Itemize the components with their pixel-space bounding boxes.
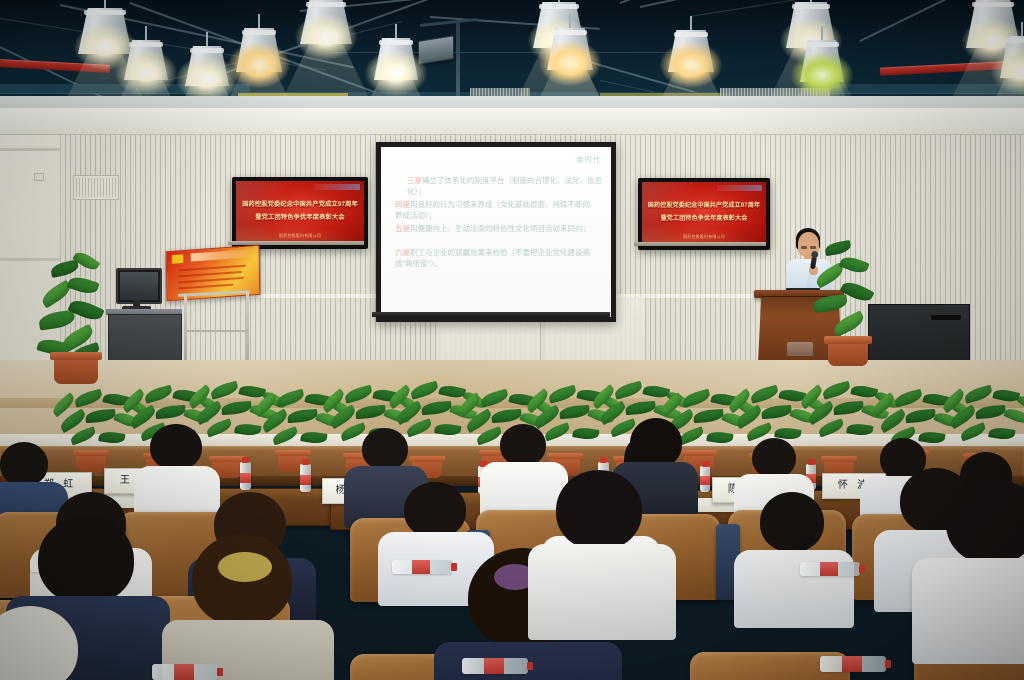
- ceiling-lamp: [300, 0, 352, 44]
- plant-pot: [828, 336, 868, 366]
- plant-pot: [76, 450, 106, 472]
- slide-line: 五是用健康向上、生动活泼的特色性文化项目活动来同向；: [395, 223, 590, 234]
- banner-left-line3: 国药控股股份有限公司: [236, 233, 364, 239]
- ceiling-lamp: [374, 38, 418, 80]
- led-banner-left: 国药控股党委纪念中国共产党成立97周年 暨党工团特色争优年度表彰大会 国药控股股…: [232, 177, 368, 249]
- potted-plant: [262, 392, 326, 490]
- wall-socket: [34, 173, 44, 181]
- water-bottle: [800, 562, 860, 576]
- ceiling-lamp: [800, 40, 844, 82]
- led-banner-right: 国药控股党委纪念中国共产党成立97周年 暨党工团特色争优年度表彰大会 国药控股股…: [638, 178, 770, 250]
- banner-left-line2: 暨党工团特色争优年度表彰大会: [236, 212, 364, 221]
- large-potted-plant-right: [812, 232, 882, 372]
- slide-logo: 新时代: [577, 155, 601, 165]
- slide-content: 新时代 三是确立了体系化的制度平台（制度的合理化、法化、信息化）；四是用良好的行…: [381, 147, 611, 317]
- water-bottle: [462, 658, 528, 674]
- projection-screen: 新时代 三是确立了体系化的制度平台（制度的合理化、法化、信息化）；四是用良好的行…: [376, 142, 616, 322]
- slide-line: 三是确立了体系化的制度平台（制度的合理化、法化、信息化）；: [407, 175, 607, 197]
- slide-line: 六是职工与企业的双赢效果来检验（不要把企业文化建设搞成"两张皮"）。: [395, 247, 595, 269]
- water-bottle: [700, 466, 710, 492]
- wall-vent: [74, 176, 118, 199]
- ceiling-lamp: [185, 46, 229, 86]
- ceiling-lamp: [236, 28, 282, 72]
- water-bottle: [300, 464, 311, 492]
- ceiling-lamp: [1000, 36, 1024, 78]
- control-monitor[interactable]: [116, 268, 162, 304]
- banner-right-line1: 国药控股党委纪念中国共产党成立97周年: [642, 200, 766, 209]
- slide-line: 四是用良好的行为习惯来养成（文化基础层面，持续不断的养成活动）；: [395, 199, 595, 221]
- conference-hall-photo: 国药控股党委纪念中国共产党成立97周年 暨党工团特色争优年度表彰大会 国药控股股…: [0, 0, 1024, 680]
- banner-right-line3: 国药控股股份有限公司: [642, 234, 766, 240]
- large-potted-plant-left: [36, 246, 116, 376]
- plant-pot: [54, 352, 98, 384]
- ceiling-lamp: [124, 40, 168, 80]
- water-bottle: [152, 664, 218, 680]
- water-bottle: [240, 462, 251, 490]
- banner-left-line1: 国药控股党委纪念中国共产党成立97周年: [236, 199, 364, 208]
- banner-right-line2: 暨党工团特色争优年度表彰大会: [642, 213, 766, 222]
- water-bottle: [392, 560, 452, 574]
- water-bottle: [820, 656, 886, 672]
- ceiling-lamp: [668, 30, 714, 72]
- ceiling-lamp: [547, 28, 593, 70]
- wall-cornice: [0, 108, 1024, 135]
- projector-mount-pole: [456, 22, 460, 98]
